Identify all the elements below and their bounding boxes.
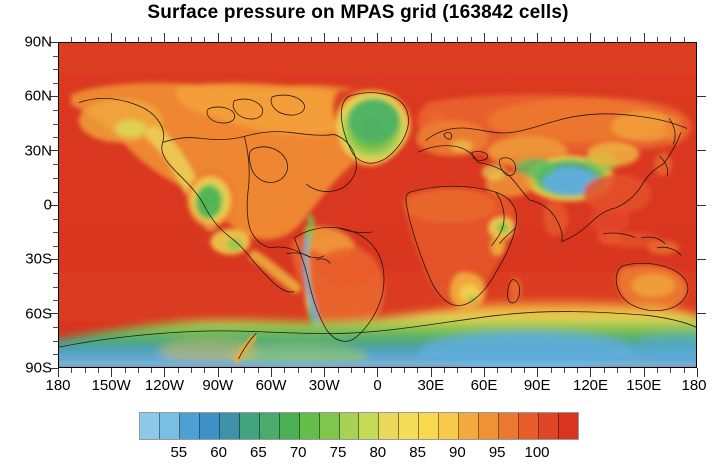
- x-tick-label: 150E: [626, 377, 661, 394]
- x-minor-tick-top: [564, 37, 565, 42]
- colorbar[interactable]: [139, 412, 579, 440]
- y-minor-tick: [53, 287, 58, 288]
- map-plot-area: [58, 42, 697, 368]
- y-minor-tick: [53, 327, 58, 328]
- x-minor-tick: [444, 368, 445, 373]
- colorbar-tick-label: 80: [369, 444, 386, 461]
- x-minor-tick-top: [71, 37, 72, 42]
- x-major-tick: [431, 368, 432, 377]
- y-major-tick: [49, 150, 58, 151]
- colorbar-cell: [479, 413, 499, 439]
- colorbar-tick-label: 100: [524, 444, 549, 461]
- x-minor-tick-top: [284, 37, 285, 42]
- x-minor-tick-top: [204, 37, 205, 42]
- y-minor-tick: [53, 232, 58, 233]
- x-tick-label: 30E: [417, 377, 444, 394]
- x-minor-tick-top: [151, 37, 152, 42]
- surface-pressure-heatmap: [59, 43, 696, 367]
- x-minor-tick-top: [657, 37, 658, 42]
- y-minor-tick: [53, 137, 58, 138]
- x-minor-tick-top: [231, 37, 232, 42]
- x-tick-label: 90E: [524, 377, 551, 394]
- colorbar-tick-label: 60: [210, 444, 227, 461]
- y-tick-label: 60S: [25, 305, 52, 322]
- x-minor-tick-top: [444, 37, 445, 42]
- x-minor-tick-top: [338, 37, 339, 42]
- x-minor-tick: [231, 368, 232, 373]
- x-major-tick: [484, 368, 485, 377]
- x-major-tick: [377, 368, 378, 377]
- x-minor-tick: [511, 368, 512, 373]
- x-minor-tick-top: [364, 37, 365, 42]
- x-minor-tick: [417, 368, 418, 373]
- x-minor-tick: [258, 368, 259, 373]
- y-major-tick-right: [697, 259, 706, 260]
- x-tick-label: 180: [681, 377, 706, 394]
- colorbar-tick-label: 90: [449, 444, 466, 461]
- colorbar-cell: [340, 413, 360, 439]
- x-minor-tick-top: [684, 37, 685, 42]
- x-minor-tick-top: [125, 37, 126, 42]
- x-minor-tick: [604, 368, 605, 373]
- x-minor-tick-top: [577, 37, 578, 42]
- x-tick-label: 30W: [309, 377, 340, 394]
- x-minor-tick-top: [191, 37, 192, 42]
- x-tick-label: 90W: [202, 377, 233, 394]
- x-minor-tick: [71, 368, 72, 373]
- colorbar-cell: [419, 413, 439, 439]
- colorbar-cell: [280, 413, 300, 439]
- x-minor-tick-top: [457, 37, 458, 42]
- colorbar-cell: [539, 413, 559, 439]
- x-major-tick: [164, 368, 165, 377]
- x-minor-tick: [151, 368, 152, 373]
- figure-root: Surface pressure on MPAS grid (163842 ce…: [0, 0, 716, 466]
- x-minor-tick: [657, 368, 658, 373]
- x-minor-tick: [298, 368, 299, 373]
- colorbar-cell: [260, 413, 280, 439]
- x-minor-tick: [551, 368, 552, 373]
- x-minor-tick-top: [471, 37, 472, 42]
- x-major-tick-top: [377, 33, 378, 42]
- x-minor-tick: [457, 368, 458, 373]
- x-minor-tick: [284, 368, 285, 373]
- y-minor-tick: [53, 178, 58, 179]
- x-minor-tick-top: [98, 37, 99, 42]
- y-minor-tick: [53, 246, 58, 247]
- x-minor-tick: [564, 368, 565, 373]
- colorbar-cell: [359, 413, 379, 439]
- colorbar-cell: [399, 413, 419, 439]
- colorbar-cell: [559, 413, 578, 439]
- x-minor-tick: [630, 368, 631, 373]
- colorbar-cell: [519, 413, 539, 439]
- y-axis: 90N 60N 30N 0 30S 60S 90S: [0, 0, 52, 466]
- colorbar-tick-label: 65: [250, 444, 267, 461]
- y-tick-label: 60N: [24, 88, 52, 105]
- colorbar-cell: [499, 413, 519, 439]
- x-tick-label: 60W: [256, 377, 287, 394]
- colorbar-cell: [439, 413, 459, 439]
- x-minor-tick: [617, 368, 618, 373]
- x-minor-tick: [524, 368, 525, 373]
- y-minor-tick: [53, 164, 58, 165]
- x-minor-tick-top: [138, 37, 139, 42]
- y-major-tick: [49, 259, 58, 260]
- x-minor-tick-top: [258, 37, 259, 42]
- x-minor-tick: [244, 368, 245, 373]
- colorbar-cell: [459, 413, 479, 439]
- y-major-tick: [49, 96, 58, 97]
- x-minor-tick-top: [178, 37, 179, 42]
- colorbar-cell: [160, 413, 180, 439]
- x-major-tick-top: [644, 33, 645, 42]
- y-minor-tick: [53, 56, 58, 57]
- y-tick-label: 30S: [25, 251, 52, 268]
- y-minor-tick: [53, 69, 58, 70]
- y-tick-label: 90S: [25, 360, 52, 377]
- x-major-tick: [324, 368, 325, 377]
- chart-title: Surface pressure on MPAS grid (163842 ce…: [0, 2, 716, 24]
- x-tick-label: 0: [373, 377, 381, 394]
- x-tick-label: 120W: [145, 377, 184, 394]
- colorbar-cell: [379, 413, 399, 439]
- x-minor-tick-top: [351, 37, 352, 42]
- y-tick-label: 90N: [24, 34, 52, 51]
- x-major-tick: [218, 368, 219, 377]
- x-minor-tick: [125, 368, 126, 373]
- x-minor-tick-top: [417, 37, 418, 42]
- x-major-tick-top: [431, 33, 432, 42]
- y-major-tick: [49, 42, 58, 43]
- y-major-tick-right: [697, 150, 706, 151]
- x-minor-tick: [178, 368, 179, 373]
- y-minor-tick: [53, 110, 58, 111]
- x-minor-tick: [98, 368, 99, 373]
- x-minor-tick: [404, 368, 405, 373]
- x-minor-tick-top: [244, 37, 245, 42]
- colorbar-cell: [220, 413, 240, 439]
- x-major-tick-top: [111, 33, 112, 42]
- y-major-tick: [49, 313, 58, 314]
- y-major-tick: [49, 205, 58, 206]
- x-minor-tick-top: [311, 37, 312, 42]
- x-major-tick-top: [218, 33, 219, 42]
- x-minor-tick: [351, 368, 352, 373]
- colorbar-tick-label: 70: [290, 444, 307, 461]
- x-minor-tick-top: [404, 37, 405, 42]
- x-minor-tick-top: [524, 37, 525, 42]
- colorbar-tick-label: 55: [170, 444, 187, 461]
- y-major-tick: [49, 368, 58, 369]
- x-major-tick: [590, 368, 591, 377]
- x-minor-tick-top: [391, 37, 392, 42]
- x-major-tick-top: [537, 33, 538, 42]
- y-minor-tick: [53, 273, 58, 274]
- colorbar-cell: [240, 413, 260, 439]
- y-minor-tick: [53, 354, 58, 355]
- x-minor-tick: [684, 368, 685, 373]
- x-major-tick-top: [164, 33, 165, 42]
- x-minor-tick: [191, 368, 192, 373]
- x-minor-tick: [471, 368, 472, 373]
- colorbar-tick-label: 75: [330, 444, 347, 461]
- x-major-tick-top: [271, 33, 272, 42]
- x-minor-tick-top: [497, 37, 498, 42]
- colorbar-cell: [140, 413, 160, 439]
- x-major-tick: [537, 368, 538, 377]
- x-minor-tick-top: [298, 37, 299, 42]
- colorbar-tick-label: 85: [409, 444, 426, 461]
- y-minor-tick: [53, 124, 58, 125]
- y-minor-tick: [53, 219, 58, 220]
- x-minor-tick: [364, 368, 365, 373]
- x-tick-label: 150W: [92, 377, 131, 394]
- x-tick-label: 180: [45, 377, 70, 394]
- colorbar-cell: [200, 413, 220, 439]
- x-major-tick: [111, 368, 112, 377]
- x-major-tick: [644, 368, 645, 377]
- x-tick-label: 120E: [573, 377, 608, 394]
- x-minor-tick: [391, 368, 392, 373]
- x-major-tick-top: [590, 33, 591, 42]
- y-minor-tick: [53, 192, 58, 193]
- colorbar-tick-label: 95: [489, 444, 506, 461]
- colorbar-cell: [300, 413, 320, 439]
- x-minor-tick-top: [630, 37, 631, 42]
- x-minor-tick-top: [85, 37, 86, 42]
- x-minor-tick: [85, 368, 86, 373]
- x-major-tick-top: [484, 33, 485, 42]
- y-tick-label: 30N: [24, 142, 52, 159]
- y-major-tick-right: [697, 96, 706, 97]
- x-tick-label: 60E: [471, 377, 498, 394]
- x-minor-tick: [204, 368, 205, 373]
- x-minor-tick-top: [617, 37, 618, 42]
- x-minor-tick: [670, 368, 671, 373]
- x-minor-tick: [577, 368, 578, 373]
- x-major-tick: [58, 368, 59, 377]
- y-minor-tick: [53, 83, 58, 84]
- y-minor-tick: [53, 341, 58, 342]
- x-minor-tick: [497, 368, 498, 373]
- x-minor-tick-top: [511, 37, 512, 42]
- colorbar-cell: [180, 413, 200, 439]
- x-major-tick-top: [324, 33, 325, 42]
- y-minor-tick: [53, 300, 58, 301]
- y-major-tick-right: [697, 313, 706, 314]
- x-minor-tick: [311, 368, 312, 373]
- y-major-tick-right: [697, 205, 706, 206]
- x-major-tick: [271, 368, 272, 377]
- x-minor-tick: [138, 368, 139, 373]
- x-minor-tick-top: [604, 37, 605, 42]
- x-minor-tick-top: [551, 37, 552, 42]
- x-major-tick: [697, 368, 698, 377]
- colorbar-cell: [320, 413, 340, 439]
- x-minor-tick-top: [670, 37, 671, 42]
- x-minor-tick: [338, 368, 339, 373]
